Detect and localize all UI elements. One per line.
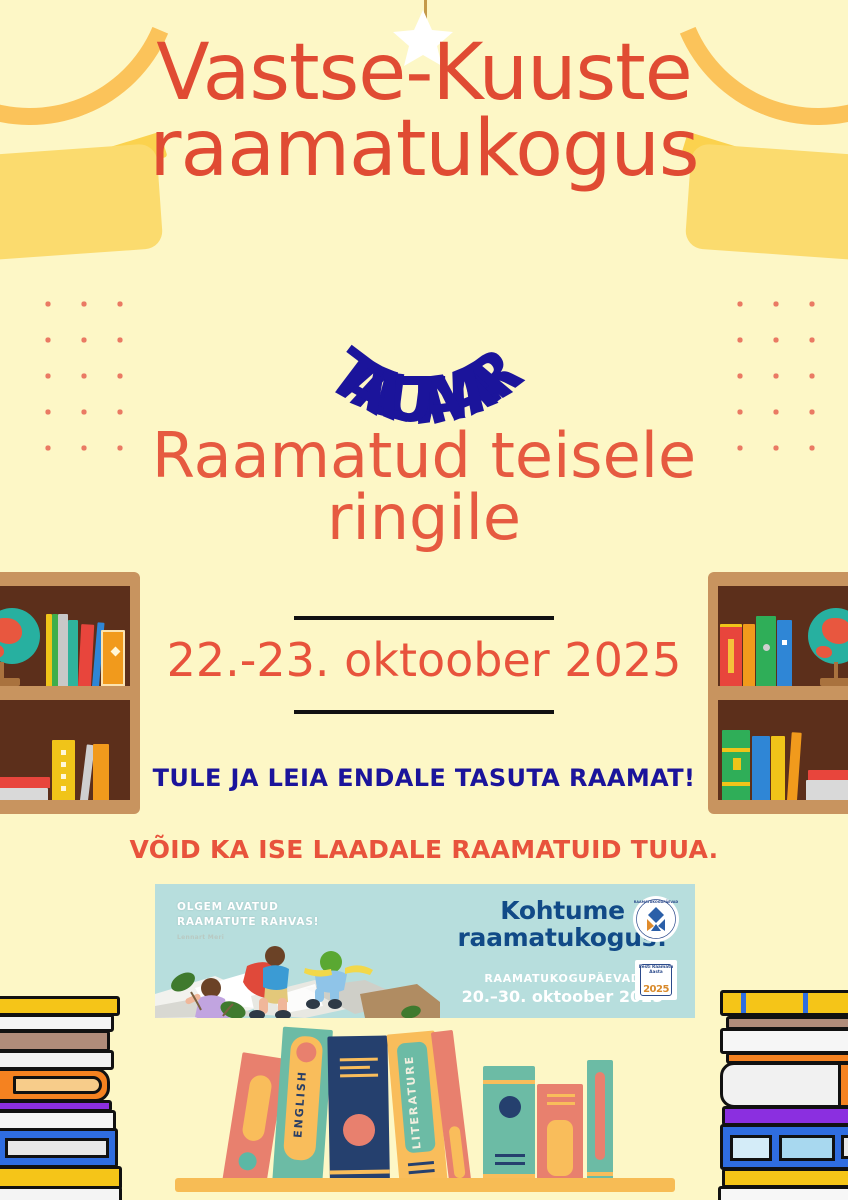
poster-subtitle: Raamatud teisele ringile xyxy=(0,425,848,549)
bottom-book-illustration: ENGLISH LITERATURE xyxy=(0,1010,848,1200)
title-line-2: raamatukogus xyxy=(0,112,848,188)
banner-quote-line-2: RAAMATUTE RAHVAS! xyxy=(177,915,319,930)
upright-book xyxy=(537,1084,583,1186)
bottom-shelf-plank xyxy=(175,1178,675,1192)
date-divider-bottom xyxy=(294,710,554,714)
upright-book-english: ENGLISH xyxy=(272,1027,333,1188)
banner-quote-line-1: OLGEM AVATUD xyxy=(177,900,319,915)
cta-primary-text: TULE JA LEIA ENDALE TASUTA RAAMAT! xyxy=(0,764,848,792)
stack-book xyxy=(720,990,848,1016)
event-date: 22.-23. oktoober 2025 xyxy=(0,633,848,687)
stack-book xyxy=(720,1062,848,1108)
library-days-banner: OLGEM AVATUD RAAMATUTE RAHVAS! Lennart M… xyxy=(155,884,695,1018)
stack-book xyxy=(720,1028,848,1054)
stack-book xyxy=(722,1168,848,1188)
library-days-logo: RAAMATUKOGUPÄEVAD xyxy=(633,896,679,942)
poster-canvas: Vastse-Kuuste raamatukogus RAAMATULAAT R… xyxy=(0,0,848,1200)
upright-book xyxy=(327,1035,390,1186)
arched-headline-raamatulaat: RAAMATULAAT xyxy=(0,272,848,402)
stack-book xyxy=(718,1186,848,1200)
title-line-1: Vastse-Kuuste xyxy=(0,36,848,112)
stack-book xyxy=(0,1128,118,1168)
stack-book xyxy=(0,1068,110,1102)
stack-book xyxy=(0,996,120,1016)
book-year-logo-text: Eesti Raamatu Aasta xyxy=(635,964,677,975)
stack-book xyxy=(0,1030,110,1052)
subtitle-line-1: Raamatud teisele xyxy=(0,425,848,487)
stack-book xyxy=(722,1106,848,1126)
book-year-logo: Eesti Raamatu Aasta 2025 xyxy=(635,960,677,1000)
banner-quote: OLGEM AVATUD RAAMATUTE RAHVAS! xyxy=(177,900,319,930)
upright-book xyxy=(483,1066,535,1186)
star-thread xyxy=(424,0,427,20)
date-divider-top xyxy=(294,616,554,620)
book-year-logo-year: 2025 xyxy=(635,984,677,995)
stack-book xyxy=(720,1124,848,1170)
poster-title: Vastse-Kuuste raamatukogus xyxy=(0,36,848,187)
banner-quote-attribution: Lennart Meri xyxy=(177,934,224,941)
library-days-logo-text: RAAMATUKOGUPÄEVAD xyxy=(633,900,679,904)
subtitle-line-2: ringile xyxy=(0,487,848,549)
cta-secondary-text: VÕID KA ISE LAADALE RAAMATUID TUUA. xyxy=(0,835,848,864)
stack-book xyxy=(0,1050,114,1070)
stack-book xyxy=(0,1186,122,1200)
upright-book xyxy=(587,1060,613,1186)
